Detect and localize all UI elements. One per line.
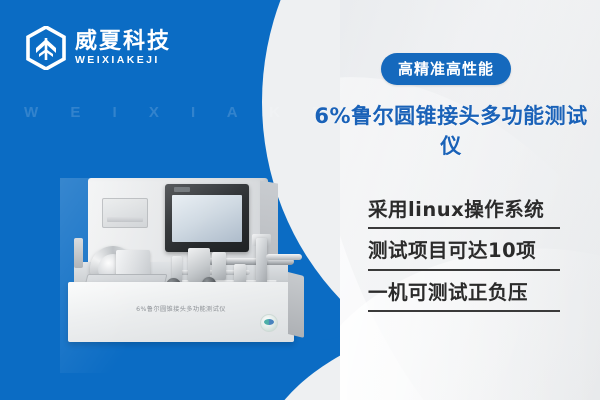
brand-logo: 威夏科技 WEIXIAKEJI [26, 26, 171, 70]
feature-divider [368, 310, 560, 312]
wheel-support-arm [74, 238, 83, 268]
hmi-brand-strip [174, 187, 190, 192]
end-stop-rod [266, 254, 302, 260]
feature-item: 采用linux操作系统 [368, 196, 560, 229]
feature-label: 测试项目可达10项 [368, 237, 560, 265]
feature-item: 测试项目可达10项 [368, 237, 560, 270]
feature-item: 一机可测试正负压 [368, 279, 560, 312]
hmi-display [172, 195, 242, 242]
feature-divider [368, 227, 560, 229]
feature-label: 一机可测试正负压 [368, 279, 560, 307]
test-fixture-3 [212, 252, 226, 280]
machine-access-plate [102, 198, 148, 228]
brand-logo-text: 威夏科技 WEIXIAKEJI [75, 30, 171, 67]
feature-label: 采用linux操作系统 [368, 196, 560, 224]
tagline-badge: 高精准高性能 [381, 53, 511, 85]
hexagon-emblem-icon [26, 26, 66, 70]
page-title: 6%鲁尔圆锥接头多功能测试仪 [310, 100, 592, 160]
brand-name-en: WEIXIAKEJI [75, 55, 171, 67]
feature-list: 采用linux操作系统 测试项目可达10项 一机可测试正负压 [368, 196, 560, 320]
brand-name-cn: 威夏科技 [75, 30, 171, 53]
product-image: 6%鲁尔圆锥接头多功能测试仪 [60, 178, 340, 373]
feature-divider [368, 269, 560, 271]
company-seal-icon [260, 314, 278, 332]
touchscreen-panel-icon [165, 184, 249, 252]
machine-name-label: 6%鲁尔圆锥接头多功能测试仪 [68, 304, 294, 313]
product-banner: W E I X I A K E J I 威夏科技 WEIXIAKEJI 高精准高… [0, 0, 600, 400]
